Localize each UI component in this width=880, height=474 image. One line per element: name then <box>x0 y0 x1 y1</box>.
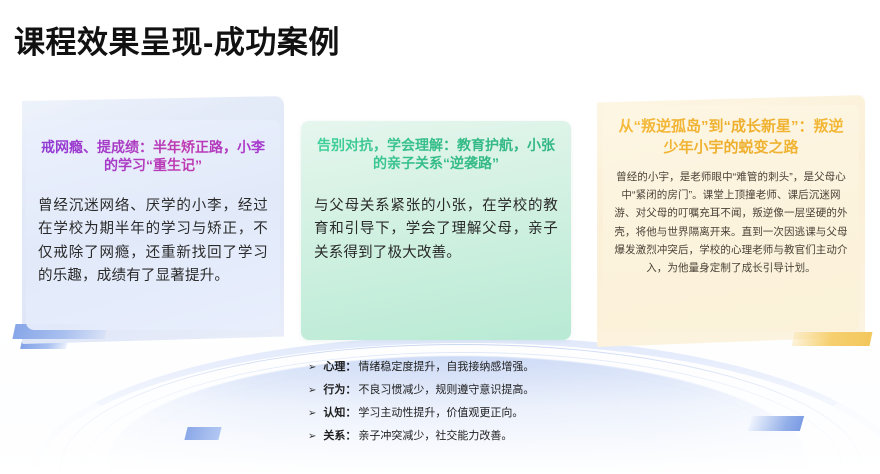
arrow-bullet-icon: ➢ <box>308 409 316 419</box>
arrow-bullet-icon: ➢ <box>308 386 316 396</box>
slide-title: 课程效果呈现-成功案例 <box>14 17 340 62</box>
case-card-xiaoyu[interactable]: 从“叛逆孤岛”到“成长新星”：叛逆少年小宇的蜕变之路 曾经的小宇，是老师眼中“难… <box>597 95 865 347</box>
case-card-xiaozhang-content: 告别对抗，学会理解：教育护航，小张的亲子关系“逆袭路” 与父母关系紧张的小张，在… <box>301 121 571 340</box>
outcome-label: 心理： <box>323 358 356 374</box>
outcome-value: 学习主动性提升，价值观更正向。 <box>358 404 523 420</box>
arrow-bullet-icon: ➢ <box>308 363 316 373</box>
outcome-label: 关系： <box>323 427 356 443</box>
case-card-xiaozhang-title: 告别对抗，学会理解：教育护航，小张的亲子关系“逆袭路” <box>314 136 558 173</box>
list-item: ➢ 关系： 亲子冲突减少，社交能力改善。 <box>308 427 578 443</box>
list-item: ➢ 心理： 情绪稳定度提升，自我接纳感增强。 <box>308 358 578 374</box>
case-card-xiaozhang[interactable]: 告别对抗，学会理解：教育护航，小张的亲子关系“逆袭路” 与父母关系紧张的小张，在… <box>301 121 571 340</box>
case-card-xiaozhang-body: 与父母关系紧张的小张，在学校的教育和引导下，学会了理解父母，亲子关系得到了极大改… <box>314 195 558 265</box>
list-item: ➢ 行为： 不良习惯减少，规则遵守意识提高。 <box>308 381 578 397</box>
case-card-xiaoyu-body: 曾经的小宇，是老师眼中“难管的刺头”，是父母心中“紧闭的房门”。课堂上顶撞老师、… <box>613 168 849 276</box>
case-card-xiaoyu-flap <box>792 332 873 346</box>
case-card-xiaoli-content: 戒网瘾、提成绩：半年矫正路，小李的学习“重生记” 曾经沉迷网络、厌学的小李，经过… <box>26 120 280 330</box>
accent-chip-right <box>748 416 804 431</box>
accent-chip-middle <box>184 427 221 440</box>
list-item: ➢ 认知： 学习主动性提升，价值观更正向。 <box>308 404 578 420</box>
arrow-bullet-icon: ➢ <box>308 432 316 442</box>
outcome-value: 不良习惯减少，规则遵守意识提高。 <box>358 381 534 397</box>
slide-canvas: 课程效果呈现-成功案例 戒网瘾、提成绩：半年矫正路，小李的学习“重生记” 曾经沉… <box>0 0 880 474</box>
case-card-xiaoyu-title: 从“叛逆孤岛”到“成长新星”：叛逆少年小宇的蜕变之路 <box>613 117 849 158</box>
outcome-value: 情绪稳定度提升，自我接纳感增强。 <box>358 358 534 374</box>
outcome-label: 认知： <box>323 404 356 420</box>
outcome-label: 行为： <box>323 381 356 397</box>
case-card-xiaoli-title: 戒网瘾、提成绩：半年矫正路，小李的学习“重生记” <box>38 138 268 175</box>
case-card-xiaoli-body: 曾经沉迷网络、厌学的小李，经过在学校为期半年的学习与矫正，不仅戒除了网瘾，还重新… <box>38 195 268 289</box>
case-card-xiaoyu-content: 从“叛逆孤岛”到“成长新星”：叛逆少年小宇的蜕变之路 曾经的小宇，是老师眼中“难… <box>603 105 859 331</box>
outcome-list: ➢ 心理： 情绪稳定度提升，自我接纳感增强。 ➢ 行为： 不良习惯减少，规则遵守… <box>308 358 578 450</box>
outcome-value: 亲子冲突减少，社交能力改善。 <box>358 427 512 443</box>
case-card-xiaoli[interactable]: 戒网瘾、提成绩：半年矫正路，小李的学习“重生记” 曾经沉迷网络、厌学的小李，经过… <box>22 96 284 344</box>
